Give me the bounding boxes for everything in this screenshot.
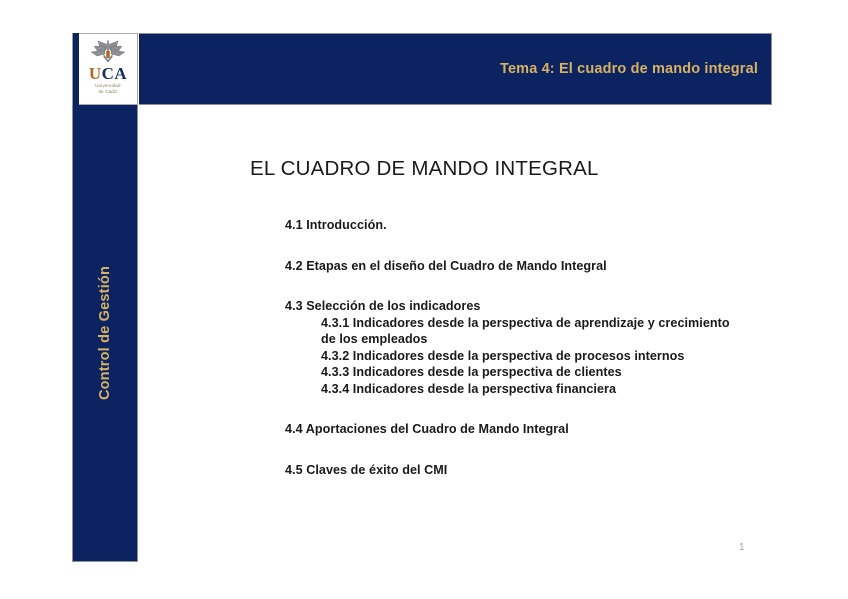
slide-header-bar: Tema 4: El cuadro de mando integral [139, 33, 772, 105]
uca-crest-icon [86, 38, 130, 64]
uca-wordmark: UCA [89, 65, 127, 82]
uca-wordmark-ca: CA [102, 64, 128, 83]
slide-content: EL CUADRO DE MANDO INTEGRAL 4.1 Introduc… [139, 105, 848, 562]
uca-wordmark-u: U [89, 64, 102, 83]
uca-subtitle-line2: de Cádiz [99, 89, 118, 94]
outline-spacer [285, 397, 825, 421]
logo-left-accent-strip [72, 33, 79, 105]
outline-spacer [285, 438, 825, 462]
outline-item-4.3.2: 4.3.2 Indicadores desde la perspectiva d… [321, 348, 741, 365]
presentation-slide: UCA Universidad de Cádiz Tema 4: El cuad… [0, 0, 848, 599]
outline-item-4.3: 4.3 Selección de los indicadores [285, 298, 825, 315]
outline-item-4.3.4: 4.3.4 Indicadores desde la perspectiva f… [321, 381, 741, 398]
outline-item-4.2: 4.2 Etapas en el diseño del Cuadro de Ma… [285, 258, 825, 275]
course-name-label: Control de Gestión [97, 266, 113, 400]
outline-item-4.3.3: 4.3.3 Indicadores desde la perspectiva d… [321, 364, 741, 381]
outline-item-4.5: 4.5 Claves de éxito del CMI [285, 462, 825, 479]
outline-item-4.3.1: 4.3.1 Indicadores desde la perspectiva d… [321, 315, 741, 348]
outline-list: 4.1 Introducción.4.2 Etapas en el diseño… [285, 217, 825, 478]
uca-logo: UCA Universidad de Cádiz [79, 33, 138, 105]
page-title: EL CUADRO DE MANDO INTEGRAL [250, 157, 599, 181]
outline-item-4.4: 4.4 Aportaciones del Cuadro de Mando Int… [285, 421, 825, 438]
outline-item-4.1: 4.1 Introducción. [285, 217, 825, 234]
page-number: 1 [739, 542, 745, 553]
topic-title: Tema 4: El cuadro de mando integral [500, 61, 758, 77]
outline-spacer [285, 234, 825, 258]
uca-subtitle-line1: Universidad [95, 83, 120, 88]
outline-spacer [285, 274, 825, 298]
course-sidebar: Control de Gestión [72, 105, 138, 562]
